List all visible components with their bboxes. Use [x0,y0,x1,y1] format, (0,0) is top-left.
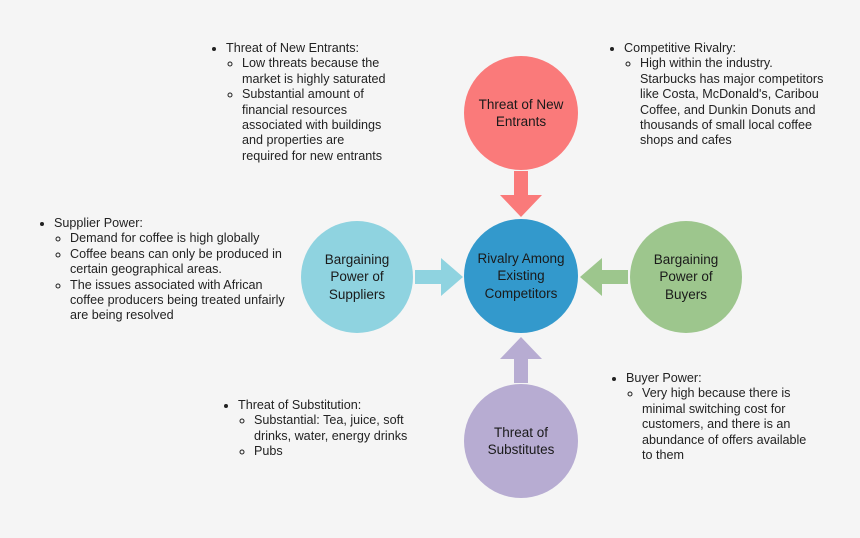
annotation-item: Substantial amount of financial resource… [242,87,386,164]
annotation-item: Substantial: Tea, juice, soft drinks, wa… [254,413,434,444]
annotation-heading: Buyer Power: Very high because there is … [626,371,810,463]
annotation-heading-text: Buyer Power: [626,371,702,385]
force-circle-bargaining-power-of-suppliers[interactable]: Bargaining Power of Suppliers [301,221,413,333]
annotation-list: Threat of New Entrants: Low threats beca… [210,41,386,164]
annotation-buyer-power: Buyer Power: Very high because there is … [610,371,810,463]
annotation-item: Low threats because the market is highly… [242,56,386,87]
annotation-list: Supplier Power: Demand for coffee is hig… [38,216,300,324]
annotation-heading-text: Supplier Power: [54,216,143,230]
annotation-sublist: Demand for coffee is high globally Coffe… [54,231,300,323]
annotation-heading: Supplier Power: Demand for coffee is hig… [54,216,300,324]
annotation-item: Coffee beans can only be produced in cer… [70,247,300,278]
arrow-up-glyph [500,337,542,383]
arrow-right-icon [415,258,463,296]
annotation-list: Buyer Power: Very high because there is … [610,371,810,463]
annotation-item: The issues associated with African coffe… [70,278,300,324]
annotation-item: Pubs [254,444,434,459]
arrow-left-glyph [580,258,628,296]
annotation-sublist: Very high because there is minimal switc… [626,386,810,463]
annotation-heading: Threat of Substitution: Substantial: Tea… [238,398,434,460]
force-circle-label: Rivalry Among Existing Competitors [467,250,574,303]
annotation-heading-text: Competitive Rivalry: [624,41,736,55]
annotation-sublist: High within the industry. Starbucks has … [624,56,826,148]
force-circle-threat-of-substitutes[interactable]: Threat of Substitutes [464,384,578,498]
annotation-item: Demand for coffee is high globally [70,231,300,246]
force-circle-label: Bargaining Power of Suppliers [315,251,400,304]
annotation-heading-text: Threat of Substitution: [238,398,361,412]
annotation-supplier-power: Supplier Power: Demand for coffee is hig… [38,216,300,324]
force-circle-label: Bargaining Power of Buyers [644,251,729,304]
annotation-competitive-rivalry: Competitive Rivalry: High within the ind… [608,41,826,149]
force-circle-label: Threat of New Entrants [469,96,574,131]
annotation-heading: Competitive Rivalry: High within the ind… [624,41,826,149]
annotation-heading-text: Threat of New Entrants: [226,41,359,55]
annotation-heading: Threat of New Entrants: Low threats beca… [226,41,386,164]
arrow-up-icon [500,337,542,383]
annotation-sublist: Substantial: Tea, juice, soft drinks, wa… [238,413,434,459]
force-circle-bargaining-power-of-buyers[interactable]: Bargaining Power of Buyers [630,221,742,333]
annotation-item: Very high because there is minimal switc… [642,386,810,463]
force-circle-label: Threat of Substitutes [478,424,565,459]
arrow-down-glyph [500,171,542,217]
annotation-item: High within the industry. Starbucks has … [640,56,826,148]
arrow-down-icon [500,171,542,217]
annotation-list: Threat of Substitution: Substantial: Tea… [222,398,434,460]
force-circle-threat-of-new-entrants[interactable]: Threat of New Entrants [464,56,578,170]
porters-five-forces-diagram: Threat of New Entrants Bargaining Power … [0,0,860,538]
annotation-sublist: Low threats because the market is highly… [226,56,386,164]
annotation-list: Competitive Rivalry: High within the ind… [608,41,826,149]
annotation-threat-of-substitution: Threat of Substitution: Substantial: Tea… [222,398,434,460]
arrow-left-icon [580,258,628,296]
arrow-right-glyph [415,258,463,296]
annotation-threat-of-new-entrants: Threat of New Entrants: Low threats beca… [210,41,386,164]
force-circle-rivalry-among-existing-competitors[interactable]: Rivalry Among Existing Competitors [464,219,578,333]
